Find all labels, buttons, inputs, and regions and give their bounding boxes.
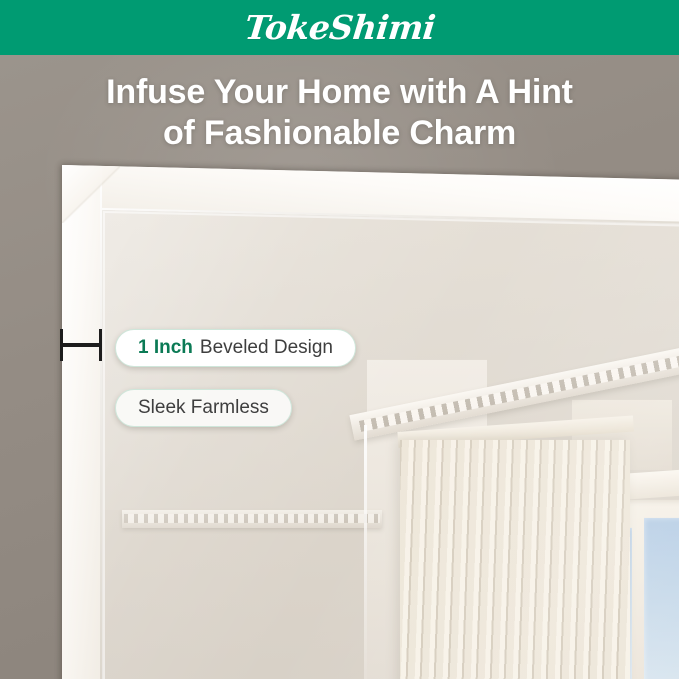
brand-banner: TokeShimi xyxy=(0,0,679,55)
reflected-room-scene xyxy=(102,210,679,679)
dimension-bar xyxy=(60,343,102,347)
frame-mitre-corner xyxy=(62,165,120,224)
dimension-cap-right xyxy=(99,329,102,361)
badge-highlight: 1 Inch xyxy=(138,337,193,359)
product-banner-image: TokeShimi Infuse Your Home with A Hint o… xyxy=(0,0,679,679)
width-dimension-marker-icon xyxy=(60,329,102,361)
headline-line-1: Infuse Your Home with A Hint xyxy=(106,73,573,111)
reflected-curtain xyxy=(400,440,630,679)
dentil-detail-left xyxy=(124,514,380,523)
headline-line-2: of Fashionable Charm xyxy=(44,113,635,154)
badge-label: Beveled Design xyxy=(200,337,333,359)
reflected-wall-corner xyxy=(364,425,367,679)
frame-rail-left xyxy=(62,165,102,679)
feature-badge-beveled-design: 1 Inch Beveled Design xyxy=(115,329,356,367)
mirror-glass xyxy=(102,210,679,679)
reflected-window-pane xyxy=(644,518,679,679)
page-title: Infuse Your Home with A Hint of Fashiona… xyxy=(0,72,679,155)
feature-badge-list: 1 Inch Beveled Design Sleek Farmless xyxy=(115,329,356,427)
badge-label: Sleek Farmless xyxy=(138,397,269,419)
brand-logo: TokeShimi xyxy=(243,11,436,44)
feature-badge-sleek-farmless: Sleek Farmless xyxy=(115,389,292,427)
